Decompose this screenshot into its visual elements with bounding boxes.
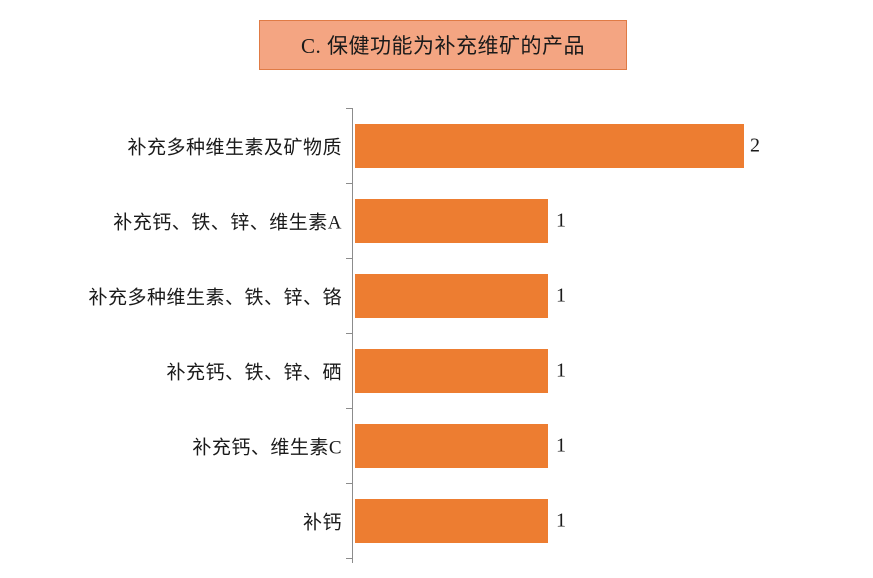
bar-value-label: 1 xyxy=(556,209,566,232)
bar-category-label: 补充多种维生素、铁、锌、铬 xyxy=(88,282,342,309)
bar-shape[interactable] xyxy=(355,424,548,468)
bar-row[interactable]: 补充钙、铁、锌、硒 1 xyxy=(0,333,873,408)
bar-value-label: 1 xyxy=(556,509,566,532)
bar-row[interactable]: 补充多种维生素及矿物质 2 xyxy=(0,108,873,183)
bar-shape[interactable] xyxy=(355,499,548,543)
bar-value-label: 1 xyxy=(556,434,566,457)
bar-category-label: 补充钙、铁、锌、维生素A xyxy=(113,207,342,234)
bar-chart-figure: C. 保健功能为补充维矿的产品 补充多种维生素及矿物质 2 补充钙、铁、锌、维生… xyxy=(0,0,873,578)
bar-shape[interactable] xyxy=(355,349,548,393)
plot-area: 补充多种维生素及矿物质 2 补充钙、铁、锌、维生素A 1 补充多种维生素、铁、锌… xyxy=(0,100,873,570)
chart-title: C. 保健功能为补充维矿的产品 xyxy=(301,30,585,60)
bar-category-label: 补钙 xyxy=(303,507,342,534)
axis-tick xyxy=(346,558,353,559)
bar-row[interactable]: 补充钙、维生素C 1 xyxy=(0,408,873,483)
bar-value-label: 2 xyxy=(750,134,760,157)
bar-row[interactable]: 补充多种维生素、铁、锌、铬 1 xyxy=(0,258,873,333)
bar-row[interactable]: 补钙 1 xyxy=(0,483,873,558)
bar-shape[interactable] xyxy=(355,124,744,168)
bar-shape[interactable] xyxy=(355,199,548,243)
bar-shape[interactable] xyxy=(355,274,548,318)
bar-value-label: 1 xyxy=(556,359,566,382)
chart-title-box: C. 保健功能为补充维矿的产品 xyxy=(259,20,627,70)
bar-category-label: 补充钙、铁、锌、硒 xyxy=(166,357,342,384)
bar-row[interactable]: 补充钙、铁、锌、维生素A 1 xyxy=(0,183,873,258)
bar-category-label: 补充多种维生素及矿物质 xyxy=(127,132,342,159)
bar-value-label: 1 xyxy=(556,284,566,307)
bar-category-label: 补充钙、维生素C xyxy=(192,432,342,459)
